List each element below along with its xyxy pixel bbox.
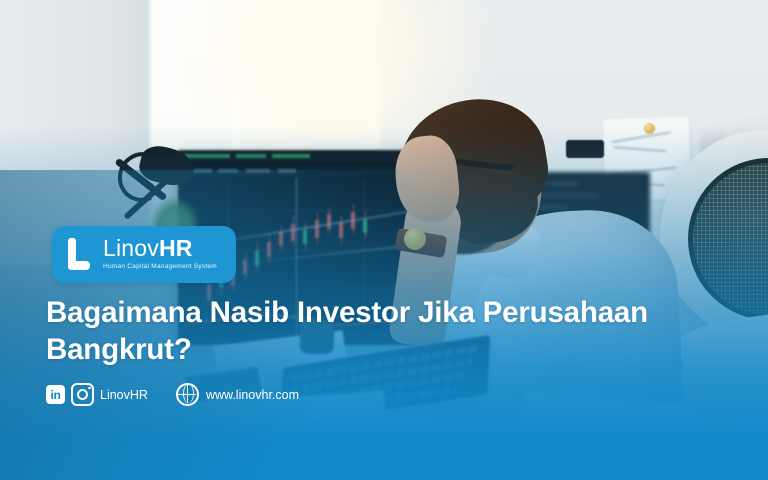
banner-image: LinovHR Human Capital Management System … [0, 0, 768, 480]
social-meta-row: in LinovHR www.linovhr.com [46, 383, 299, 406]
linovhr-l-mark-icon [68, 238, 94, 270]
linovhr-logo-badge[interactable]: LinovHR Human Capital Management System [52, 226, 236, 283]
globe-icon[interactable] [176, 383, 199, 406]
logo-wordmark: LinovHR [103, 237, 217, 260]
website-label: www.linovhr.com [206, 388, 299, 402]
social-handle-group[interactable]: in LinovHR [46, 383, 148, 406]
linkedin-icon[interactable]: in [46, 385, 65, 404]
website-group[interactable]: www.linovhr.com [176, 383, 299, 406]
instagram-icon[interactable] [71, 383, 94, 406]
page-title: Bagaimana Nasib Investor Jika Perusahaan… [46, 294, 712, 368]
social-handle-label: LinovHR [100, 388, 148, 402]
banner-content: LinovHR Human Capital Management System … [0, 0, 768, 480]
logo-word-light: Linov [103, 235, 159, 261]
logo-text-block: LinovHR Human Capital Management System [103, 237, 217, 271]
logo-word-bold: HR [159, 235, 193, 261]
logo-tagline: Human Capital Management System [103, 264, 217, 271]
